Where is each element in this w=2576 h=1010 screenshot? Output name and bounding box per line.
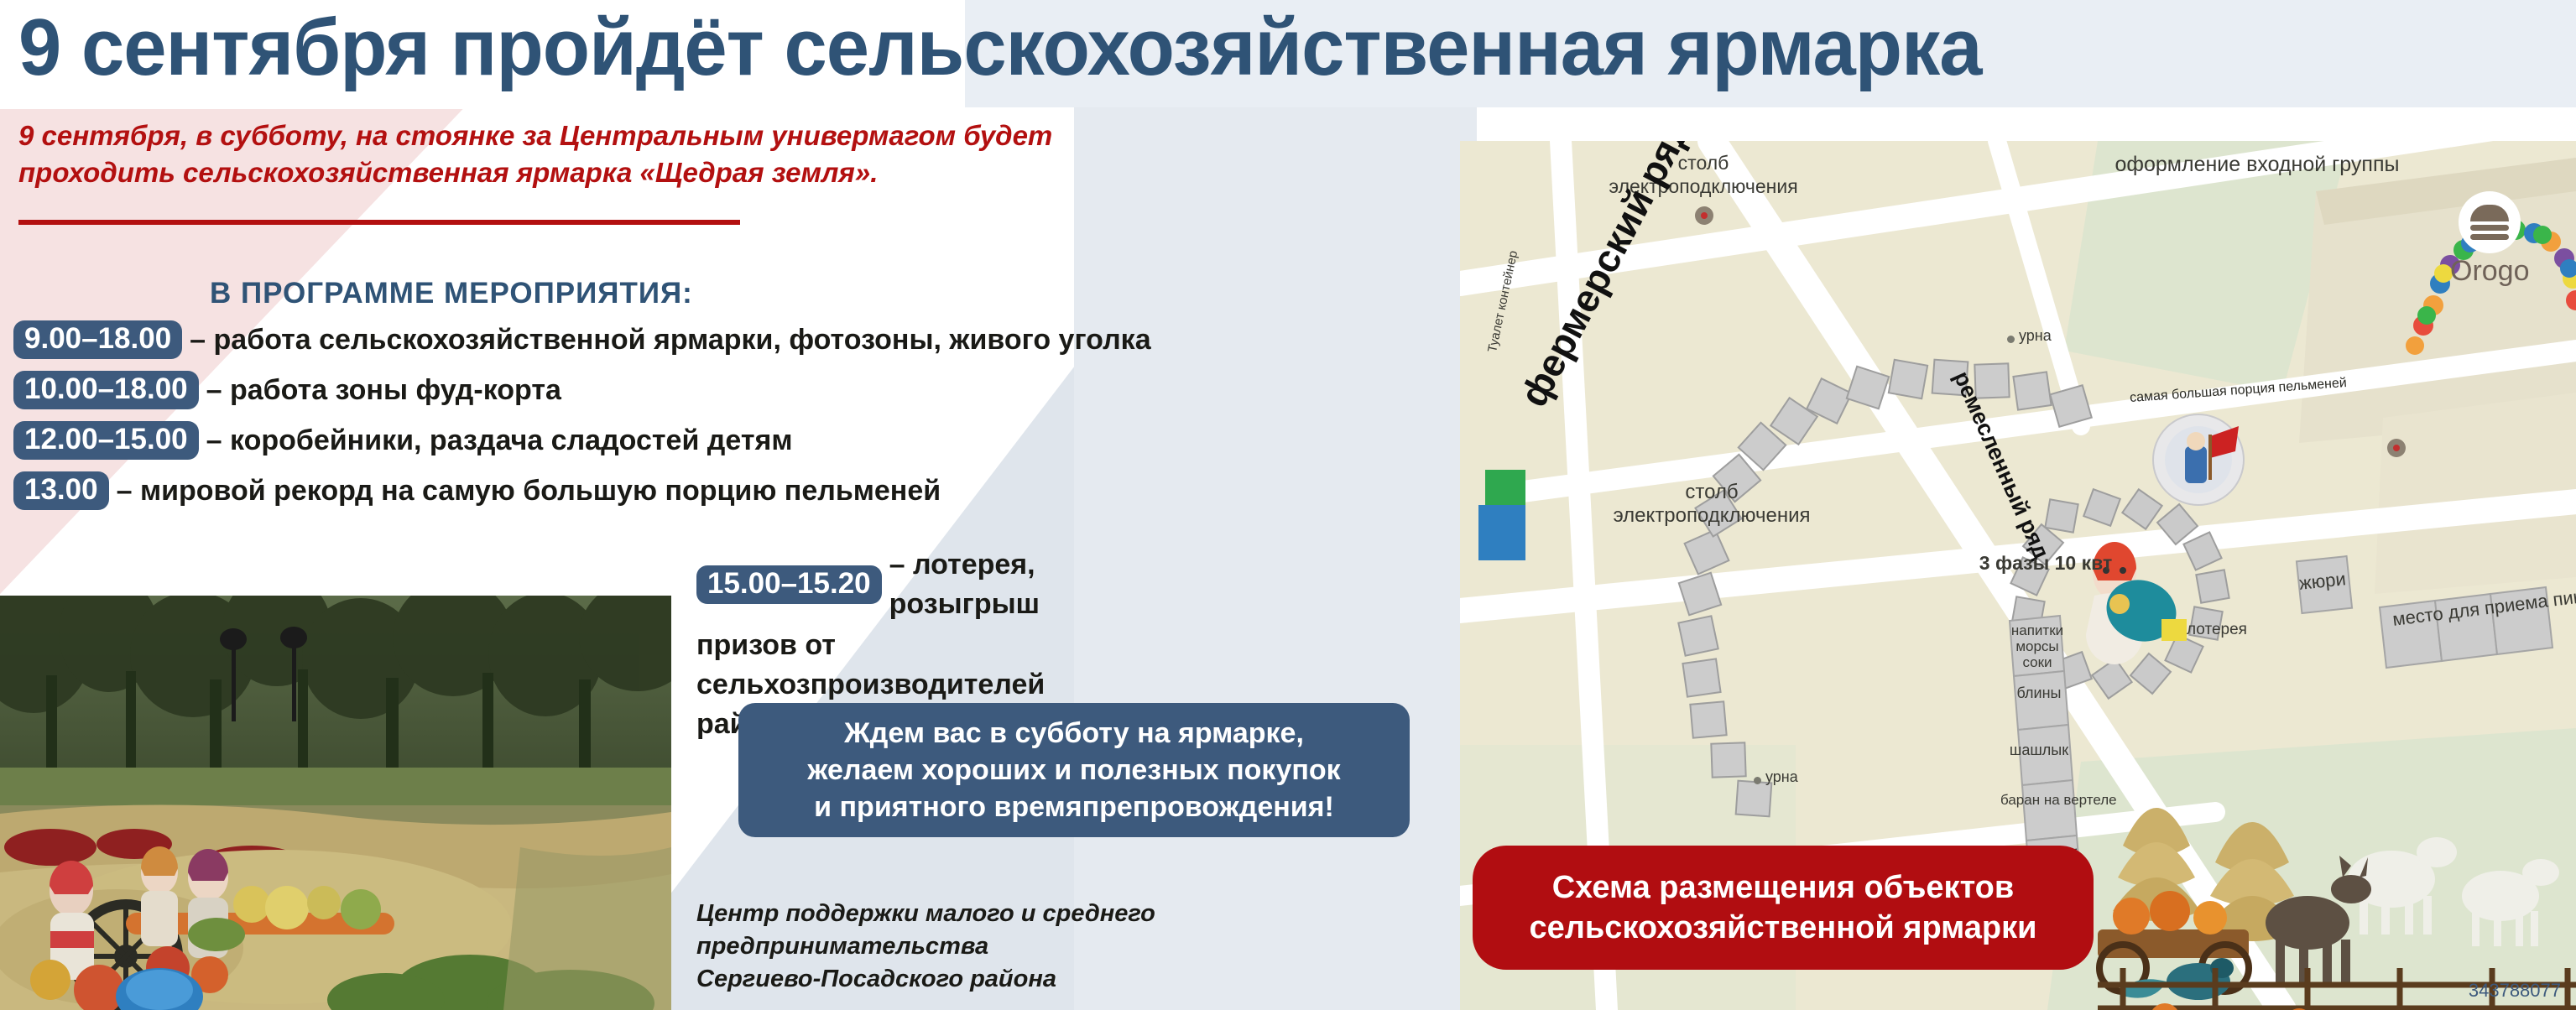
map-label-pole-right: столб электроподключения	[1577, 481, 1846, 528]
orogo-wordmark: Orogo	[2450, 255, 2530, 288]
time-badge: 10.00–18.00	[13, 371, 199, 409]
map-label-food-lamb: баран на вертеле	[2000, 792, 2078, 808]
program-heading: В ПРОГРАММЕ МЕРОПРИЯТИЯ:	[210, 277, 693, 310]
map-label-entrance-group: оформление входной группы	[2005, 153, 2509, 177]
page-title: 9 сентября пройдёт сельскохозяйственная …	[18, 0, 1982, 97]
program-item: 9.00–18.00 – работа сельскохозяйственной…	[13, 320, 769, 359]
program-item-text: – мировой рекорд на самую большую порцию…	[117, 475, 941, 507]
fair-photo-art	[0, 596, 671, 1010]
time-badge: 13.00	[13, 471, 109, 510]
burger-icon	[2459, 191, 2521, 253]
subtitle-line-2: проходить сельскохозяйственная ярмарка «…	[18, 154, 757, 191]
invitation-callout: Ждем вас в субботу на ярмарке, желаем хо…	[738, 703, 1410, 837]
subtitle: 9 сентября, в субботу, на стоянке за Цен…	[18, 117, 757, 191]
map-label-pole-phases: 3 фазы 10 квт	[1920, 552, 2172, 575]
map-label-lottery: лотерея	[2187, 621, 2247, 639]
map-label-food-blini: блины	[2007, 685, 2071, 702]
organizer-line-2: предпринимательства	[696, 930, 1284, 963]
organizer-line-1: Центр поддержки малого и среднего	[696, 898, 1284, 930]
callout-line-1: Ждем вас в субботу на ярмарке,	[844, 715, 1304, 752]
poster-root: 9 сентября пройдёт сельскохозяйственная …	[0, 0, 2576, 1010]
program-item: 12.00–15.00 – коробейники, раздача сладо…	[13, 421, 769, 460]
program-item: 13.00 – мировой рекорд на самую большую …	[13, 471, 769, 510]
subtitle-line-1: 9 сентября, в субботу, на стоянке за Цен…	[18, 117, 757, 154]
map-label-food-shashlik: шашлык	[2007, 742, 2071, 759]
map-banner-line-2: сельскохозяйственной ярмарки	[1530, 908, 2037, 948]
program-list: 9.00–18.00 – работа сельскохозяйственной…	[13, 320, 769, 522]
organizer-line-3: Сергиево-Посадского района	[696, 963, 1284, 996]
power-pole-marker-right	[2387, 439, 2406, 457]
map-title-banner: Схема размещения объектов сельскохозяйст…	[1473, 846, 2094, 970]
urn-marker	[1754, 777, 1761, 784]
map-label-urn-1: урна	[2019, 327, 2052, 345]
organizer-credit: Центр поддержки малого и среднего предпр…	[696, 898, 1284, 996]
map-label-food-drinks: напитки морсы соки	[2005, 622, 2069, 670]
program-item-text: – работа зоны фуд-корта	[206, 374, 561, 406]
time-badge: 15.00–15.20	[696, 565, 882, 604]
time-badge: 9.00–18.00	[13, 320, 182, 359]
callout-line-3: и приятного времяпрепровождения!	[814, 789, 1334, 825]
urn-marker	[2007, 336, 2015, 343]
time-badge: 12.00–15.00	[13, 421, 199, 460]
orogo-brand: Orogo	[2450, 191, 2530, 288]
callout-line-2: желаем хороших и полезных покупок	[807, 752, 1340, 789]
lottery-first-line: 15.00–15.20 – лотерея, розыгрыш	[696, 545, 1166, 624]
power-pole-marker	[1695, 206, 1713, 225]
lottery-text-line-2: призов от сельхозпроизводителей	[696, 626, 1166, 705]
map-label-urn-2: урна	[1765, 768, 1798, 786]
program-item-text: – коробейники, раздача сладостей детям	[206, 424, 793, 456]
program-item-text: – работа сельскохозяйственной ярмарки, ф…	[190, 324, 1150, 356]
divider-rule	[18, 220, 740, 225]
lottery-text-head: – лотерея, розыгрыш	[889, 545, 1166, 624]
map-banner-line-1: Схема размещения объектов	[1552, 867, 2015, 908]
program-item: 10.00–18.00 – работа зоны фуд-корта	[13, 371, 769, 409]
fair-photo	[0, 596, 671, 1010]
stock-photo-id: 343788077	[2469, 980, 2561, 1002]
